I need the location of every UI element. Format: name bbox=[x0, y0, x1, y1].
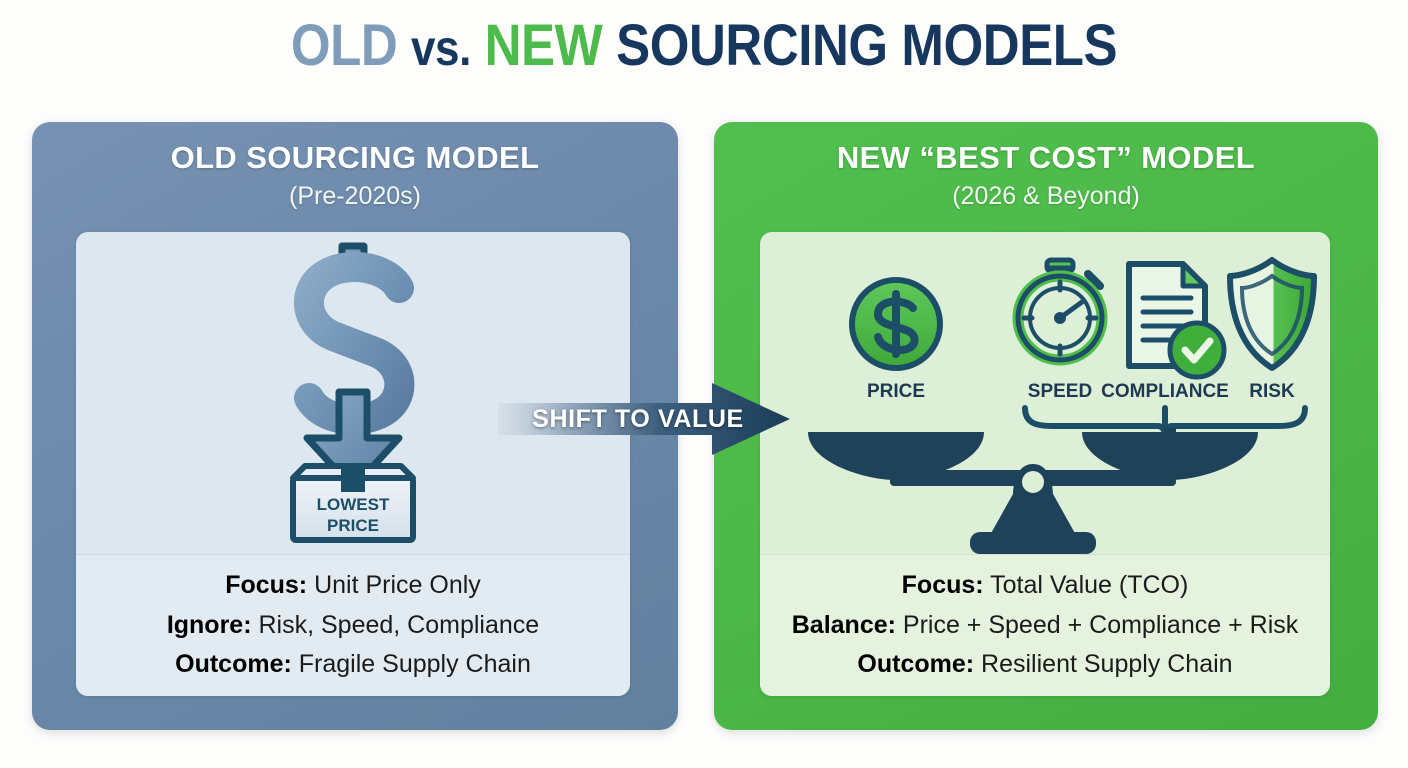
panel-old-title: OLD SOURCING MODEL bbox=[32, 140, 678, 176]
speed-stopwatch-icon bbox=[1018, 260, 1102, 360]
page-title: OLD vs. NEW SOURCING MODELS bbox=[84, 14, 1323, 78]
fact-value: Fragile Supply Chain bbox=[299, 650, 531, 678]
compliance-document-icon bbox=[1129, 264, 1224, 377]
fact-value: Risk, Speed, Compliance bbox=[258, 611, 539, 639]
old-facts-list: Focus: Unit Price Only Ignore: Risk, Spe… bbox=[76, 555, 630, 696]
fact-value: Resilient Supply Chain bbox=[981, 650, 1233, 678]
fact-label: Focus: bbox=[902, 571, 984, 599]
scale-right-label-risk: RISK bbox=[1249, 381, 1295, 402]
price-coin-icon bbox=[852, 280, 940, 368]
fact-value: Price + Speed + Compliance + Risk bbox=[903, 611, 1298, 639]
fact-row: Focus: Total Value (TCO) bbox=[902, 568, 1189, 604]
card-new-content: PRICE bbox=[760, 232, 1330, 696]
new-model-illustration: PRICE bbox=[760, 232, 1330, 554]
fact-row: Outcome: Resilient Supply Chain bbox=[857, 647, 1232, 683]
panel-new-header: NEW “BEST COST” MODEL (2026 & Beyond) bbox=[714, 140, 1378, 211]
new-facts-list: Focus: Total Value (TCO) Balance: Price … bbox=[760, 555, 1330, 696]
fact-label: Balance: bbox=[792, 611, 896, 639]
panel-new-subtitle: (2026 & Beyond) bbox=[714, 182, 1378, 211]
fact-label: Focus: bbox=[225, 571, 307, 599]
box-label-line1: LOWEST bbox=[317, 495, 390, 514]
fact-label: Outcome: bbox=[857, 650, 974, 678]
panel-new-best-cost-model: NEW “BEST COST” MODEL (2026 & Beyond) bbox=[714, 122, 1378, 730]
title-word-vs: vs. bbox=[411, 20, 471, 76]
fact-row: Balance: Price + Speed + Compliance + Ri… bbox=[792, 608, 1299, 644]
fact-label: Ignore: bbox=[167, 611, 252, 639]
scale-right-label-speed: SPEED bbox=[1028, 381, 1092, 402]
fact-row: Ignore: Risk, Speed, Compliance bbox=[167, 608, 539, 644]
title-word-old: OLD bbox=[291, 13, 397, 78]
title-word-new: NEW bbox=[485, 13, 603, 78]
risk-shield-icon bbox=[1230, 260, 1314, 368]
balance-scale-icon: PRICE bbox=[760, 232, 1330, 554]
scale-body bbox=[808, 428, 1258, 554]
title-word-rest: SOURCING MODELS bbox=[616, 13, 1117, 78]
fact-row: Focus: Unit Price Only bbox=[225, 568, 481, 604]
box-label-line2: PRICE bbox=[327, 516, 379, 535]
scale-left-label: PRICE bbox=[867, 381, 925, 402]
panel-new-title: NEW “BEST COST” MODEL bbox=[714, 140, 1378, 176]
fact-label: Outcome: bbox=[175, 650, 292, 678]
scale-right-label-compliance: COMPLIANCE bbox=[1101, 381, 1229, 402]
panel-old-header: OLD SOURCING MODEL (Pre-2020s) bbox=[32, 140, 678, 211]
fact-value: Total Value (TCO) bbox=[990, 571, 1188, 599]
card-old-content: LOWEST PRICE Focus: Unit Price Only Igno… bbox=[76, 232, 630, 696]
fact-value: Unit Price Only bbox=[314, 571, 481, 599]
fact-row: Outcome: Fragile Supply Chain bbox=[175, 647, 531, 683]
panel-old-subtitle: (Pre-2020s) bbox=[32, 182, 678, 211]
shift-to-value-arrow: SHIFT TO VALUE bbox=[498, 381, 792, 457]
